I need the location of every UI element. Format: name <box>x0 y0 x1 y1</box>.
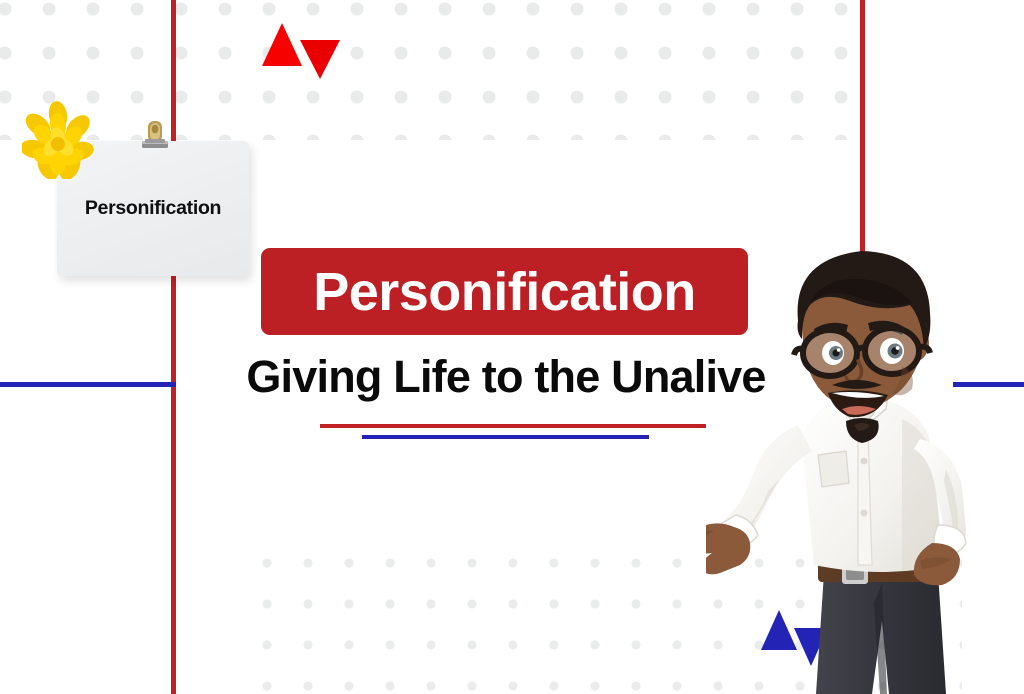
title-banner-text: Personification <box>313 265 696 319</box>
triangle-up-red-icon <box>262 23 302 66</box>
title-banner: Personification <box>261 248 748 335</box>
pinned-note-label: Personification <box>57 197 249 220</box>
vertical-red-line-right <box>860 0 865 262</box>
bulldog-clip-icon <box>140 119 170 151</box>
vertical-red-line-left <box>171 0 176 694</box>
underline-rule-blue <box>362 435 649 439</box>
dot-pattern-top <box>0 0 865 140</box>
horizontal-blue-line-left <box>0 382 176 387</box>
presenter-illustration <box>706 243 1024 694</box>
yellow-flower-icon <box>22 101 94 179</box>
underline-rule-red <box>320 424 706 428</box>
triangle-down-red-icon <box>300 40 340 79</box>
slide-canvas: Personification <box>0 0 1024 694</box>
